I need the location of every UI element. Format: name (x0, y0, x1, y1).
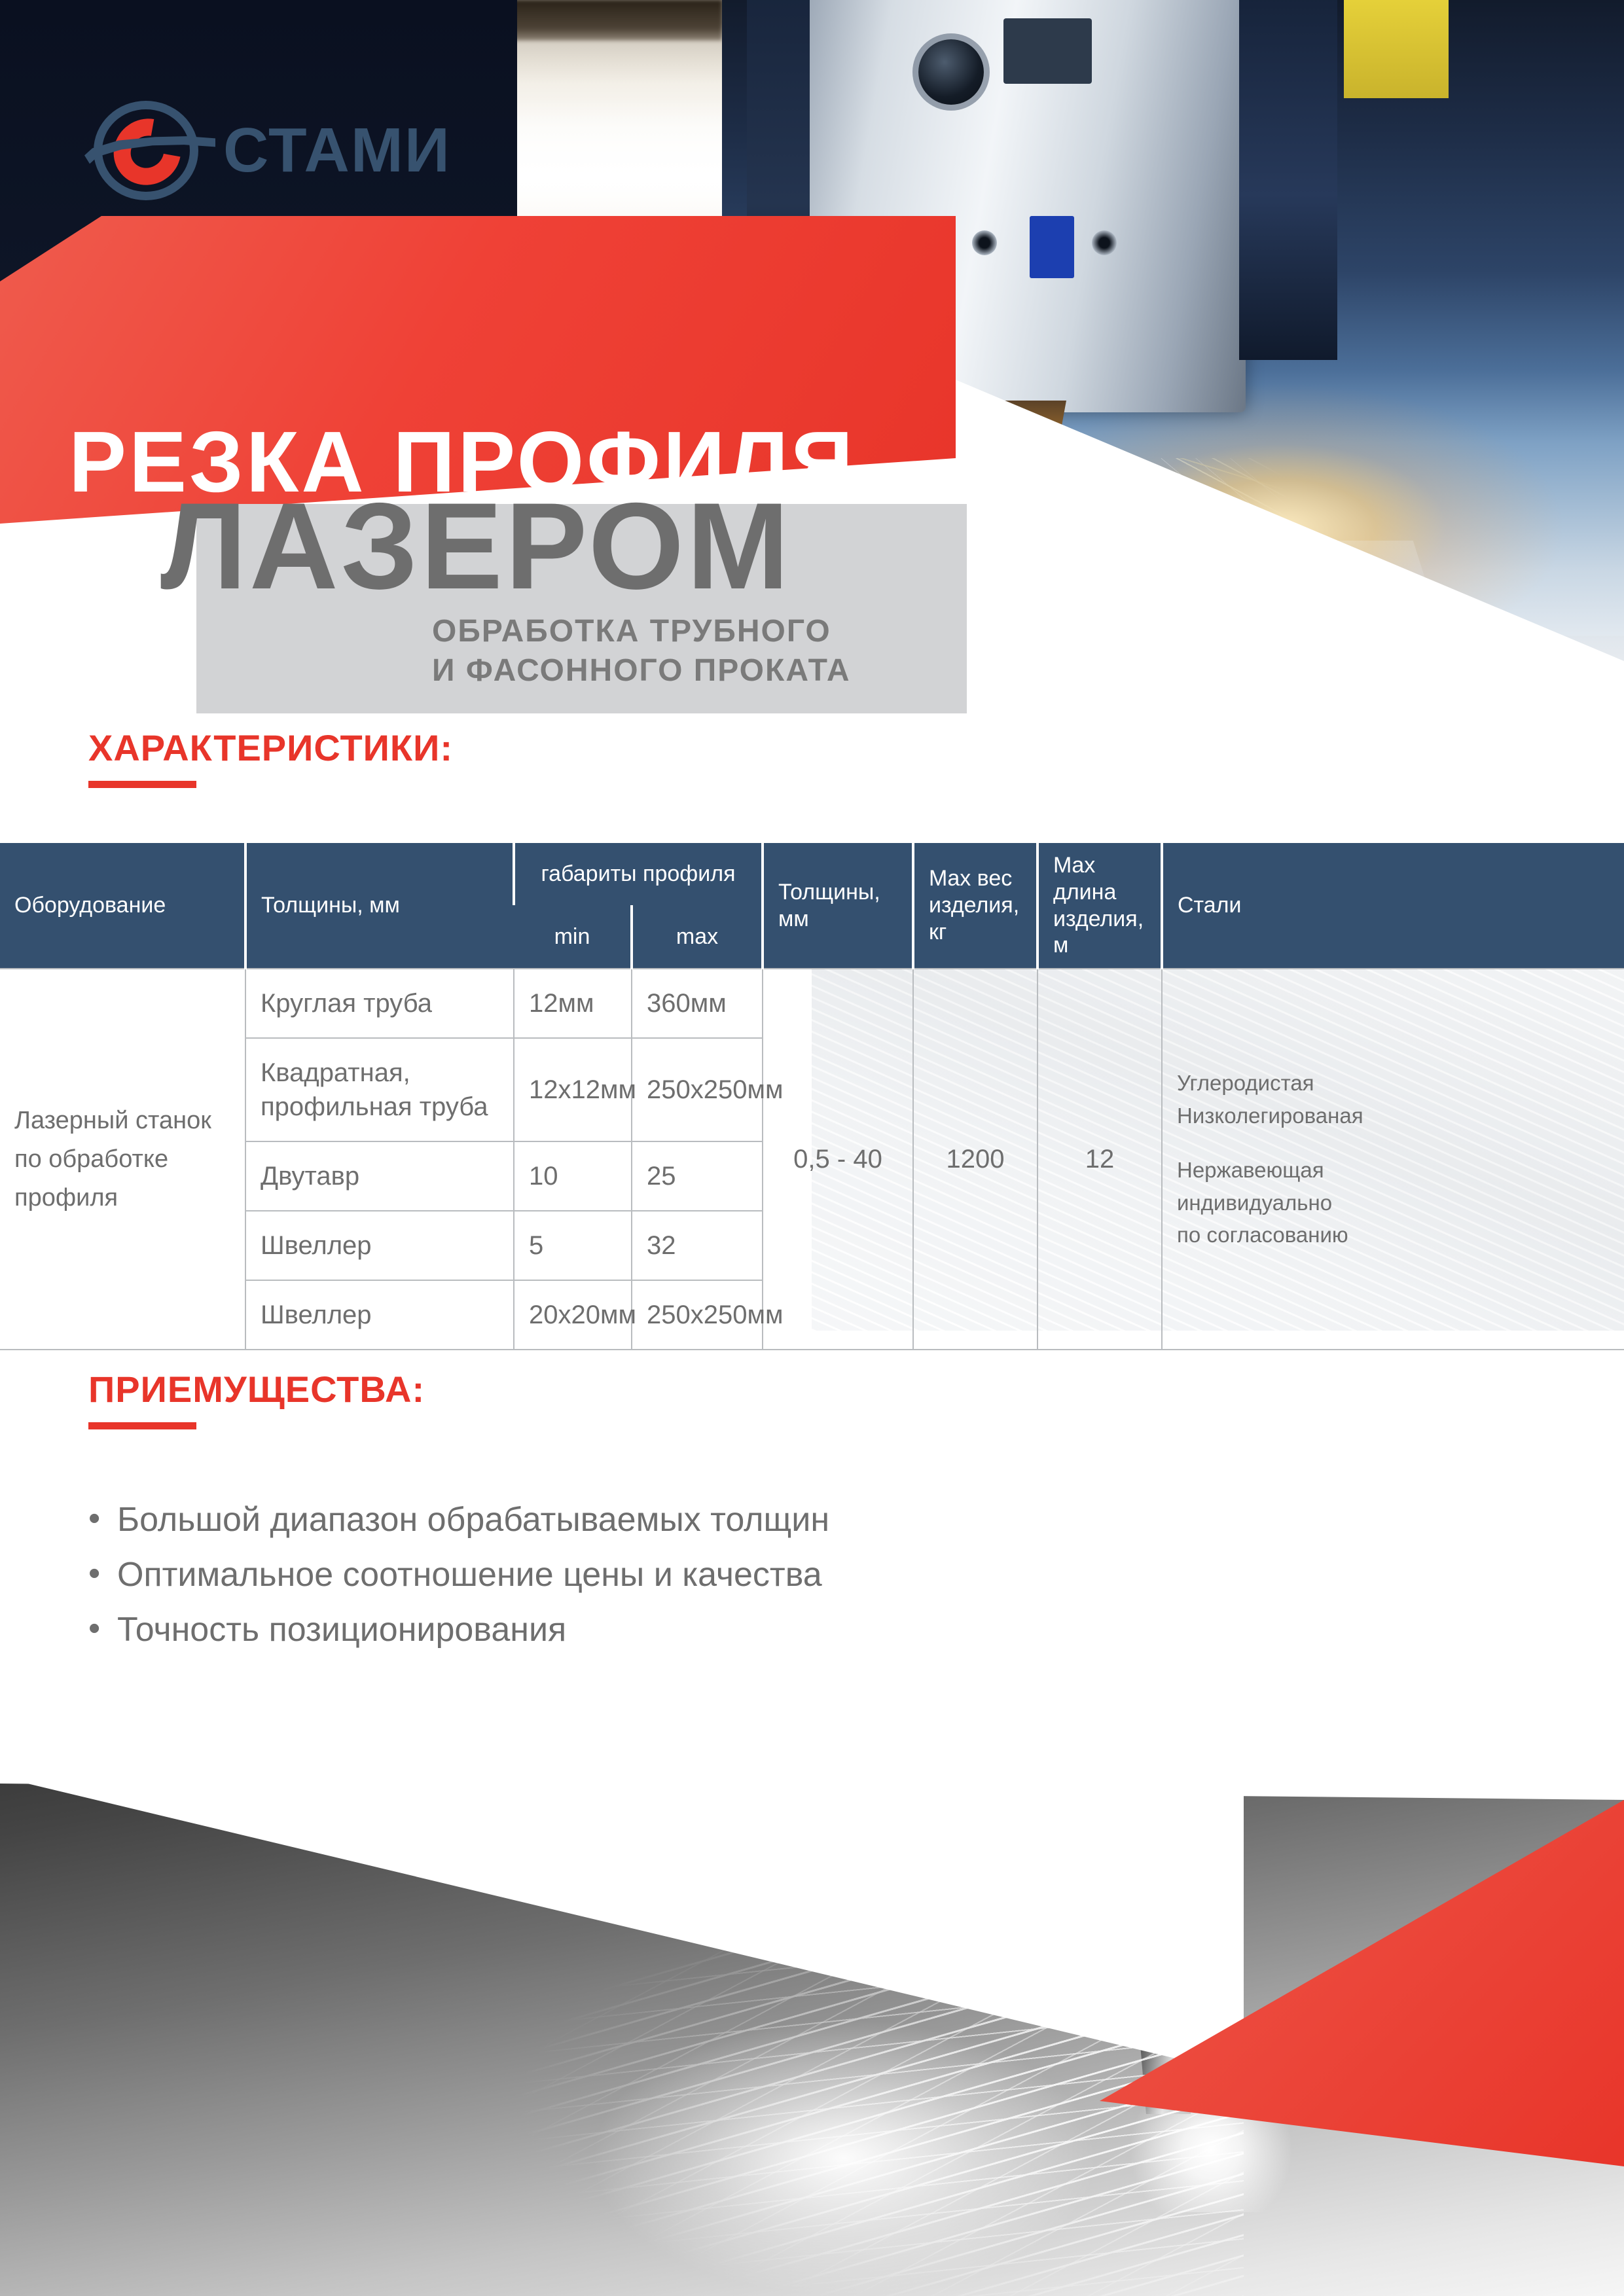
steel-line: по согласованию (1177, 1219, 1610, 1251)
hero-subtitle: ОБРАБОТКА ТРУБНОГО И ФАСОННОГО ПРОКАТА (432, 612, 851, 690)
td-thickness-sheet: 0,5 - 40 (763, 969, 913, 1350)
advantages-section-heading: ПРИЕМУЩЕСТВА: (88, 1368, 425, 1429)
td-max: 250х250мм (632, 1280, 763, 1350)
td-max-length: 12 (1038, 969, 1162, 1350)
td-profile: Круглая труба (245, 969, 514, 1038)
table-row: Лазерный станок по обработке профиля Кру… (0, 969, 1624, 1038)
company-logo: СТАМИ (88, 92, 451, 209)
td-max: 360мм (632, 969, 763, 1038)
hero-subtitle-line1: ОБРАБОТКА ТРУБНОГО (432, 612, 851, 651)
characteristics-section-heading: ХАРАКТЕРИСТИКИ: (88, 726, 453, 788)
list-item: Большой диапазон обрабатываемых толщин (88, 1492, 1136, 1547)
th-max: max (632, 905, 763, 969)
table-header-row: Оборудование Толщины, мм габариты профил… (0, 843, 1624, 905)
list-item: Точность позиционирования (88, 1602, 1136, 1657)
td-min: 10 (514, 1141, 632, 1211)
td-min: 20х20мм (514, 1280, 632, 1350)
steel-line: индивидуально (1177, 1187, 1610, 1219)
th-max-weight: Max вес изделия, кг (913, 843, 1038, 969)
td-profile: Двутавр (245, 1141, 514, 1211)
th-max-length: Max длина изделия, м (1038, 843, 1162, 969)
th-steels: Стали (1162, 843, 1624, 969)
th-equipment: Оборудование (0, 843, 245, 969)
hero-banner: СТАМИ РЕЗКА ПРОФИЛЯ ЛАЗЕРОМ ОБРАБОТКА ТР… (0, 0, 1624, 713)
advantages-list: Большой диапазон обрабатываемых толщин О… (88, 1492, 1136, 1658)
td-equipment: Лазерный станок по обработке профиля (0, 969, 245, 1350)
td-min: 12мм (514, 969, 632, 1038)
td-max: 32 (632, 1211, 763, 1280)
td-min: 5 (514, 1211, 632, 1280)
th-min: min (514, 905, 632, 969)
heading-underline (88, 1422, 196, 1429)
td-min: 12х12мм (514, 1038, 632, 1141)
steel-line: Низколегированая (1177, 1100, 1610, 1132)
th-profile-dimensions: габариты профиля (514, 843, 763, 905)
td-max: 250х250мм (632, 1038, 763, 1141)
td-max: 25 (632, 1141, 763, 1211)
hero-subtitle-line2: И ФАСОННОГО ПРОКАТА (432, 651, 851, 691)
hero-title-line2: ЛАЗЕРОМ (160, 484, 792, 607)
specifications-table-container: Оборудование Толщины, мм габариты профил… (0, 843, 1624, 1331)
list-item: Оптимальное соотношение цены и качества (88, 1547, 1136, 1602)
steel-line: Нержавеющая (1177, 1154, 1610, 1187)
company-name: СТАМИ (223, 119, 451, 182)
td-steels: Углеродистая Низколегированая Нержавеюща… (1162, 969, 1624, 1350)
footer-banner (0, 1669, 1624, 2296)
td-profile: Швеллер (245, 1211, 514, 1280)
specifications-table: Оборудование Толщины, мм габариты профил… (0, 843, 1624, 1350)
stami-emblem-icon (88, 92, 206, 209)
steel-line: Углеродистая (1177, 1067, 1610, 1100)
th-thickness-profile: Толщины, мм (245, 843, 514, 969)
th-thickness-sheet: Толщины, мм (763, 843, 913, 969)
td-profile: Квадратная, профильная труба (245, 1038, 514, 1141)
advantages-title: ПРИЕМУЩЕСТВА: (88, 1368, 425, 1410)
characteristics-title: ХАРАКТЕРИСТИКИ: (88, 726, 453, 769)
heading-underline (88, 781, 196, 788)
td-max-weight: 1200 (913, 969, 1038, 1350)
td-profile: Швеллер (245, 1280, 514, 1350)
